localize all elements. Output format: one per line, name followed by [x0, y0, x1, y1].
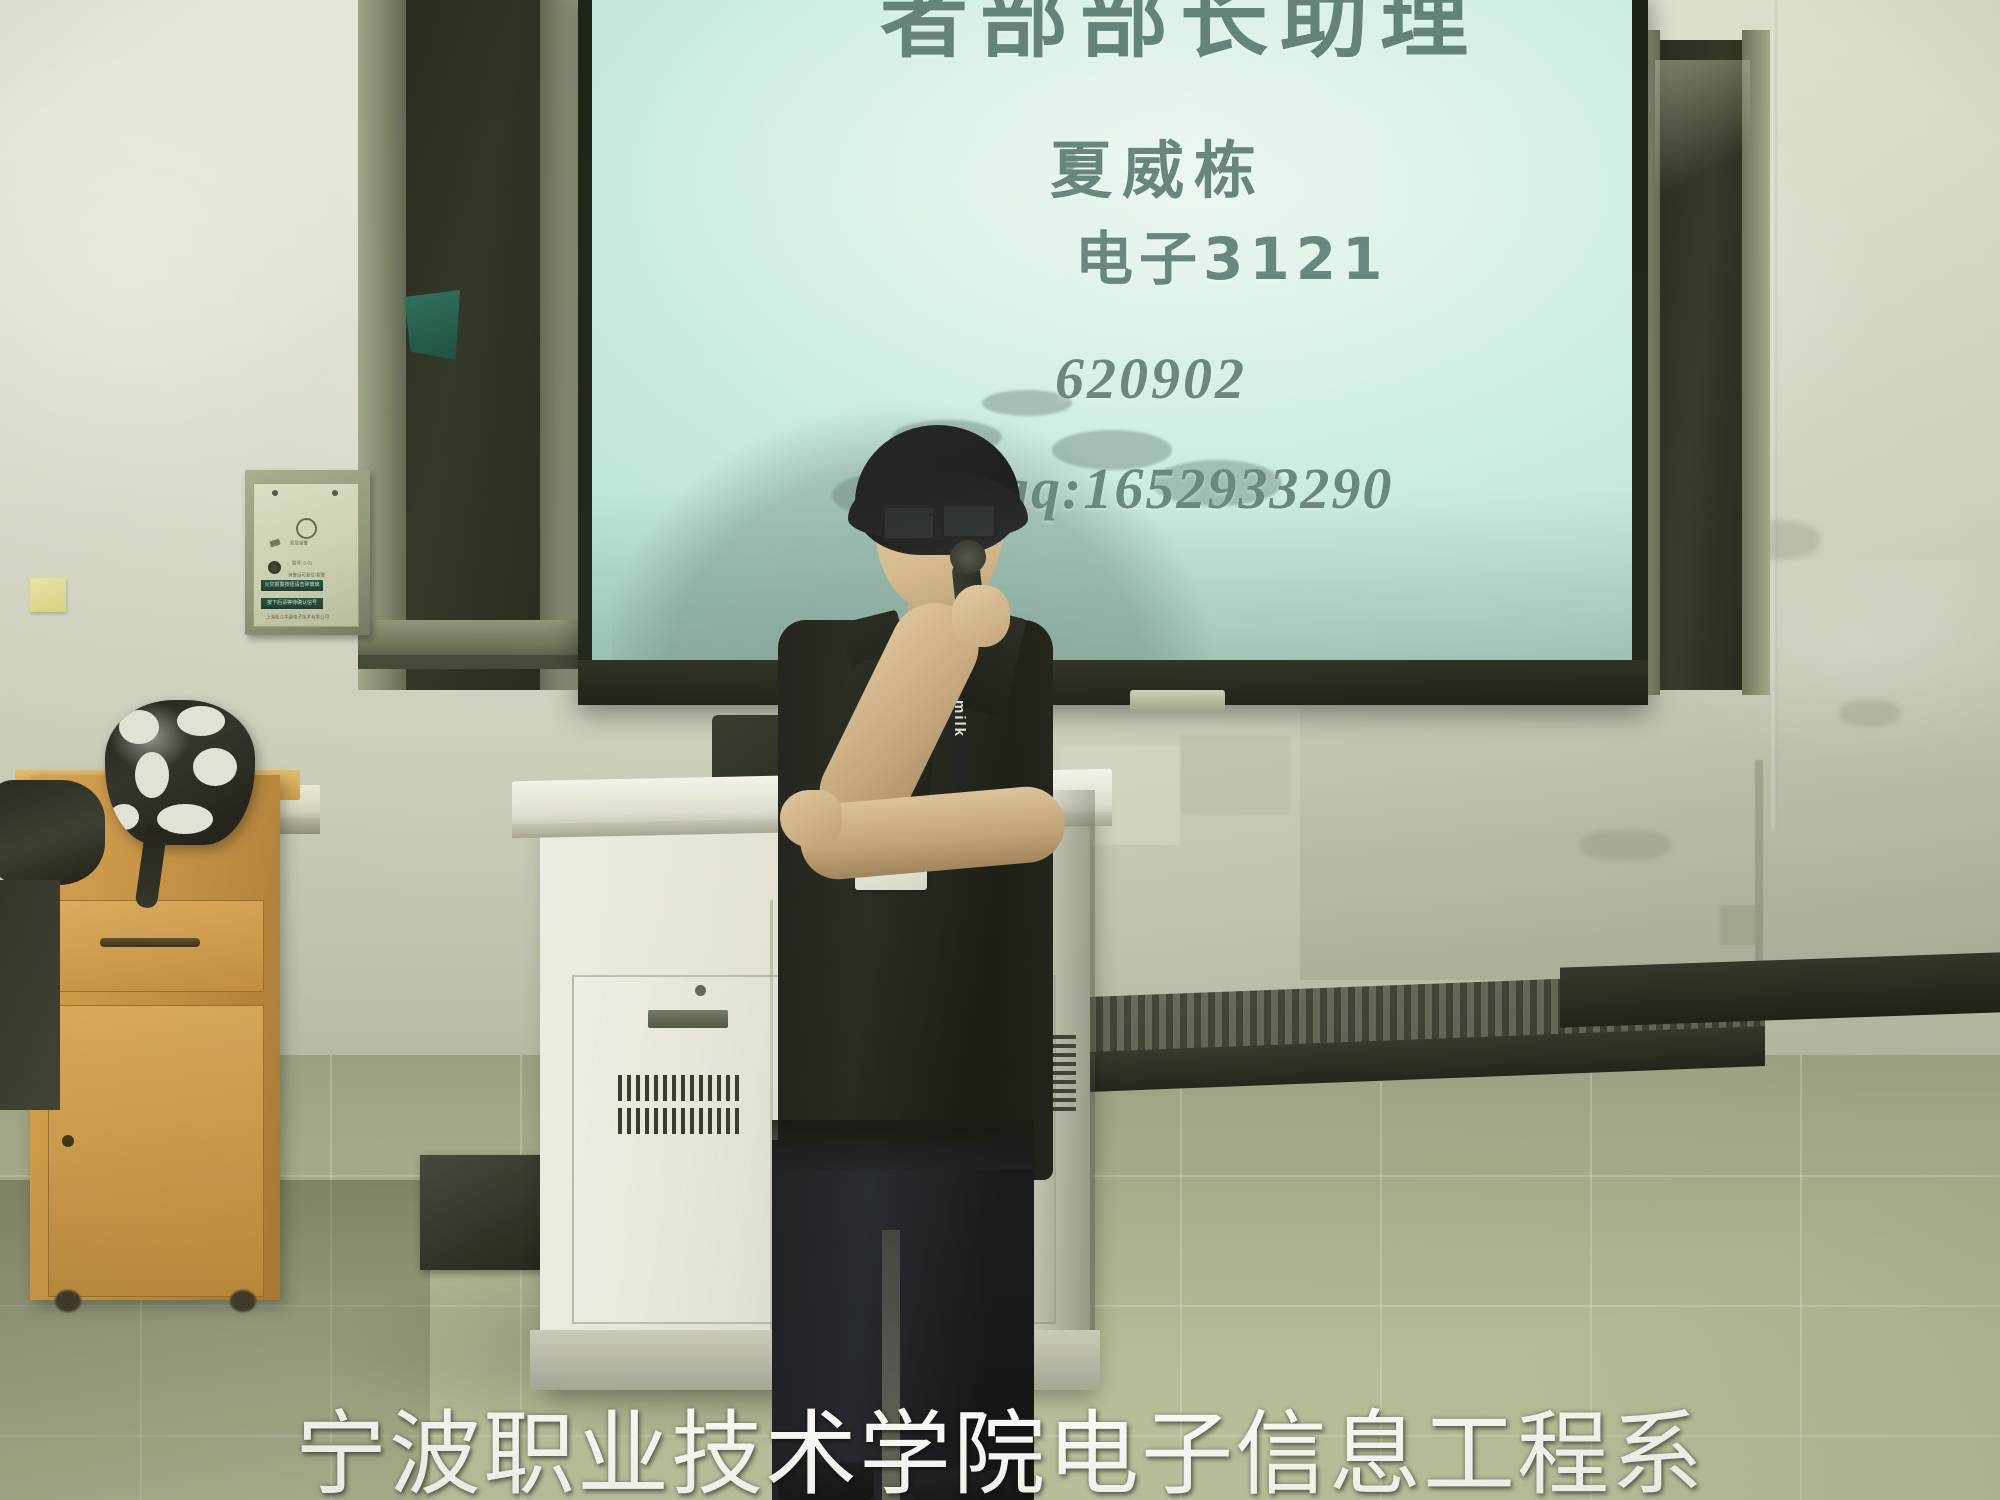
left-blackboard-reflection	[404, 290, 460, 360]
lectern-vent	[618, 1075, 743, 1101]
lectern-button[interactable]	[695, 985, 706, 996]
projection-screen-bottom-bar	[578, 660, 1648, 705]
cabinet-foot	[55, 1290, 81, 1312]
wall-sticky-note	[30, 578, 66, 612]
wall-scuff	[1580, 830, 1670, 860]
person-left-hand	[780, 790, 842, 848]
wall-vent-plate	[1180, 735, 1290, 815]
photo-caption: 宁波职业技术学院电子信息工程系	[0, 1380, 2000, 1500]
eyeglasses-right-lens	[941, 503, 997, 539]
panel-footer-label: 上海松江华康电子技术有限公司	[266, 614, 329, 620]
wall-scuff	[1840, 700, 1900, 726]
cabinet-door[interactable]	[48, 1005, 264, 1297]
lectern-slot	[648, 1010, 728, 1028]
cabinet-drawer-handle[interactable]	[100, 938, 200, 947]
wall-outlet	[1720, 905, 1760, 945]
wall-cable	[1755, 760, 1763, 980]
panel-strip-1-label: 火灾报警按钮请击碎玻璃	[261, 580, 323, 591]
cabinet-foot	[230, 1290, 256, 1312]
eyeglasses-left-lens	[882, 505, 936, 541]
person-hip-shadow	[772, 1120, 1034, 1170]
slide-line-number: 620902	[1055, 345, 1247, 412]
wall-seam	[1772, 0, 1777, 830]
microphone-head-icon	[950, 540, 986, 574]
eyeglasses-bridge	[929, 513, 943, 516]
photo-canvas: 者部部长助理 夏威栋 电子3121 620902 qq:1652933290 紧…	[0, 0, 2000, 1500]
slide-line-class: 电子3121	[1075, 212, 1388, 296]
panel-label-top: 紧急报警	[290, 540, 308, 546]
left-blackboard-chalk-rail	[358, 620, 588, 660]
panel-screw	[332, 490, 338, 496]
panel-label-mid: 型号: 0-01	[292, 560, 313, 566]
projection-screen-surface	[592, 0, 1632, 670]
left-blackboard-rail-shadow	[358, 655, 588, 669]
cabinet-door-knob[interactable]	[62, 1135, 74, 1147]
slide-line-qq: qq:1652933290	[1000, 455, 1393, 522]
right-blackboard-glare	[1655, 60, 1750, 210]
panel-screw	[272, 490, 278, 496]
slide-title: 者部部长助理	[880, 0, 1480, 75]
panel-label-sub: 消警后可复位/报警	[288, 572, 325, 578]
dark-bag	[0, 780, 105, 885]
person-hand-holding-microphone	[952, 585, 1010, 647]
patterned-backpack	[105, 700, 255, 845]
dark-chair	[0, 880, 60, 1110]
lectern-vent	[618, 1108, 743, 1134]
projection-screen-roller	[1130, 690, 1225, 712]
panel-led-icon[interactable]	[268, 561, 281, 574]
slide-line-name: 夏威栋	[1050, 120, 1266, 210]
panel-strip-2-label: 按下后请等待确认信号	[261, 598, 323, 609]
panel-indicator-ring-icon	[296, 518, 317, 539]
